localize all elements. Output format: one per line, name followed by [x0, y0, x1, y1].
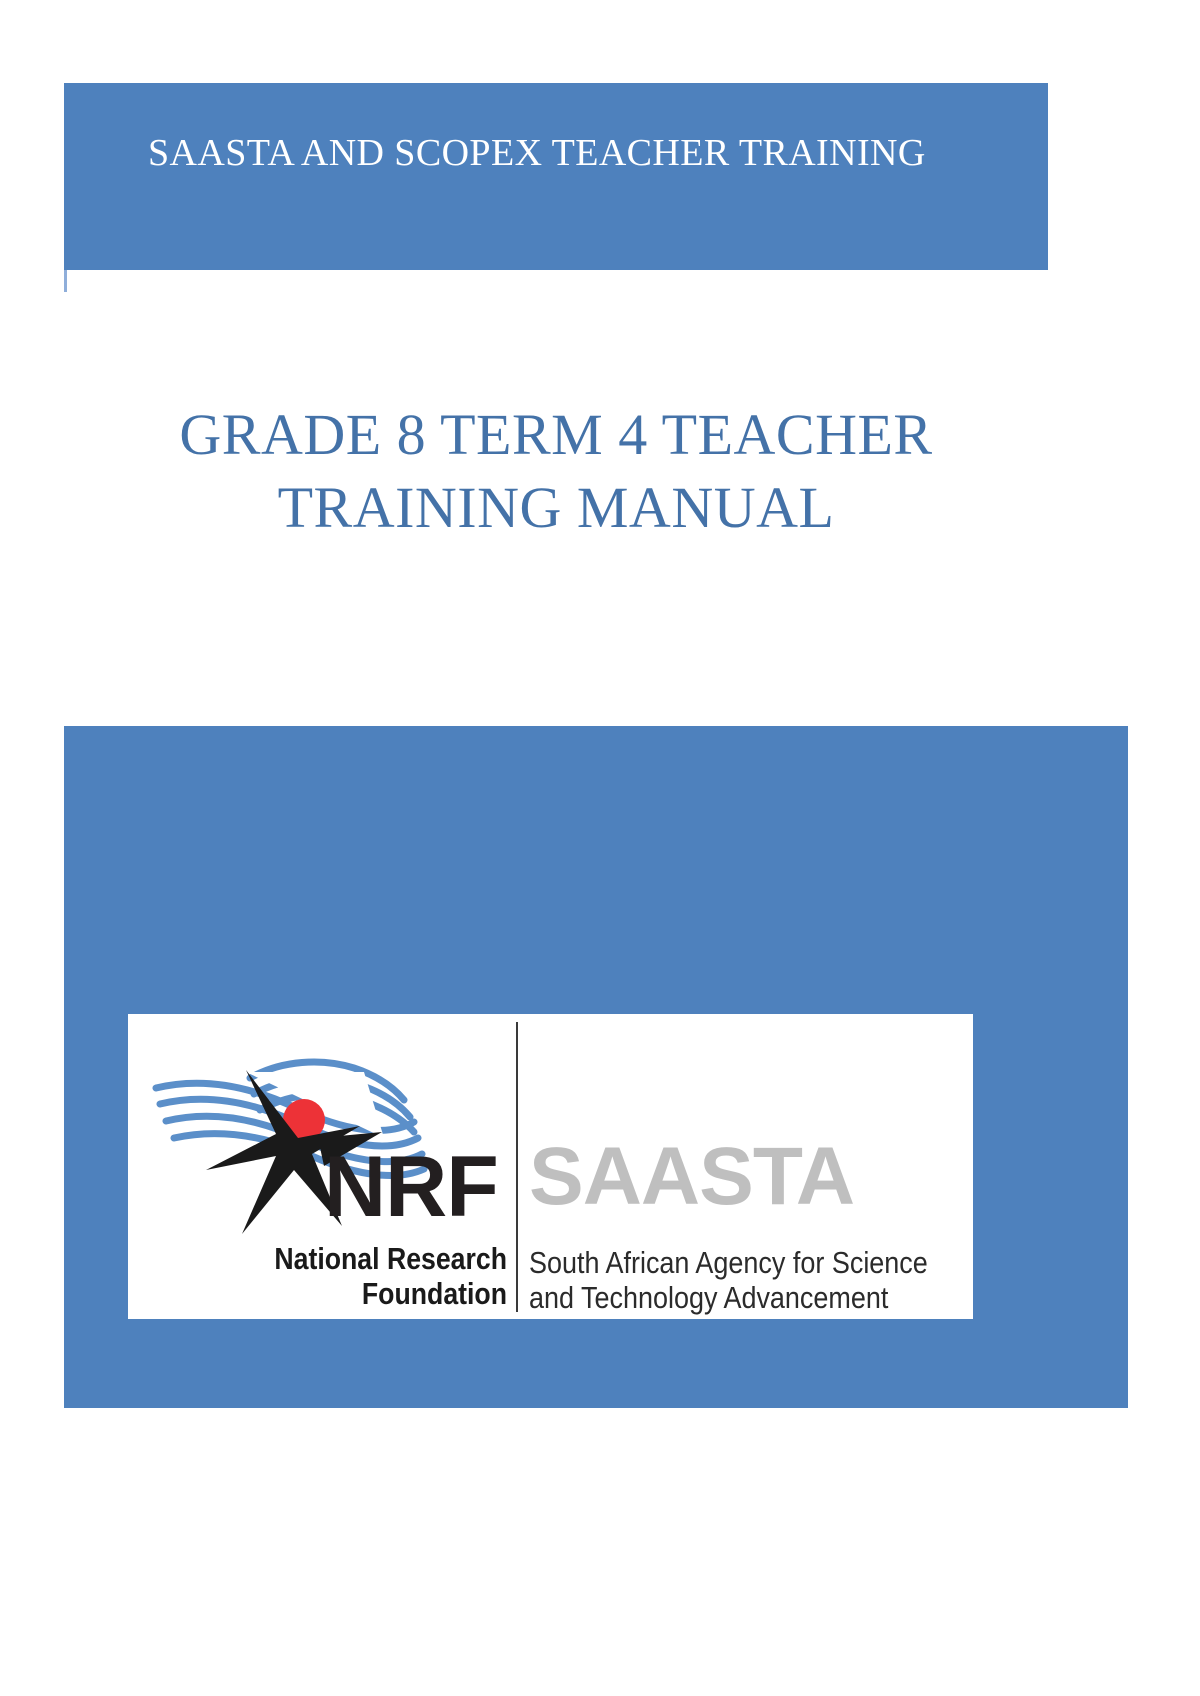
saasta-subtitle-line-2: and Technology Advancement — [529, 1281, 928, 1316]
saasta-lockup: SAASTA South African Agency for Science … — [513, 1014, 973, 1319]
document-page: SAASTA AND SCOPEX TEACHER TRAINING GRADE… — [0, 0, 1200, 1696]
saasta-wordmark: SAASTA — [529, 1136, 854, 1218]
nrf-subtitle-line-2: Foundation — [223, 1277, 507, 1312]
nrf-subtitle-line-1: National Research — [223, 1242, 507, 1277]
nrf-subtitle: National Research Foundation — [223, 1242, 507, 1311]
header-banner-title: SAASTA AND SCOPEX TEACHER TRAINING — [148, 133, 1038, 175]
logo-card: NRF National Research Foundation SAASTA … — [128, 1014, 973, 1319]
page-title-line-1: GRADE 8 TERM 4 TEACHER — [64, 398, 1048, 471]
nrf-wordmark: NRF — [324, 1144, 498, 1230]
header-accent-tick — [64, 270, 67, 292]
page-title-line-2: TRAINING MANUAL — [64, 471, 1048, 544]
header-banner: SAASTA AND SCOPEX TEACHER TRAINING — [64, 83, 1048, 270]
nrf-lockup: NRF National Research Foundation — [128, 1014, 513, 1319]
saasta-subtitle: South African Agency for Science and Tec… — [529, 1246, 928, 1315]
saasta-subtitle-line-1: South African Agency for Science — [529, 1246, 928, 1281]
page-title: GRADE 8 TERM 4 TEACHER TRAINING MANUAL — [64, 398, 1048, 544]
